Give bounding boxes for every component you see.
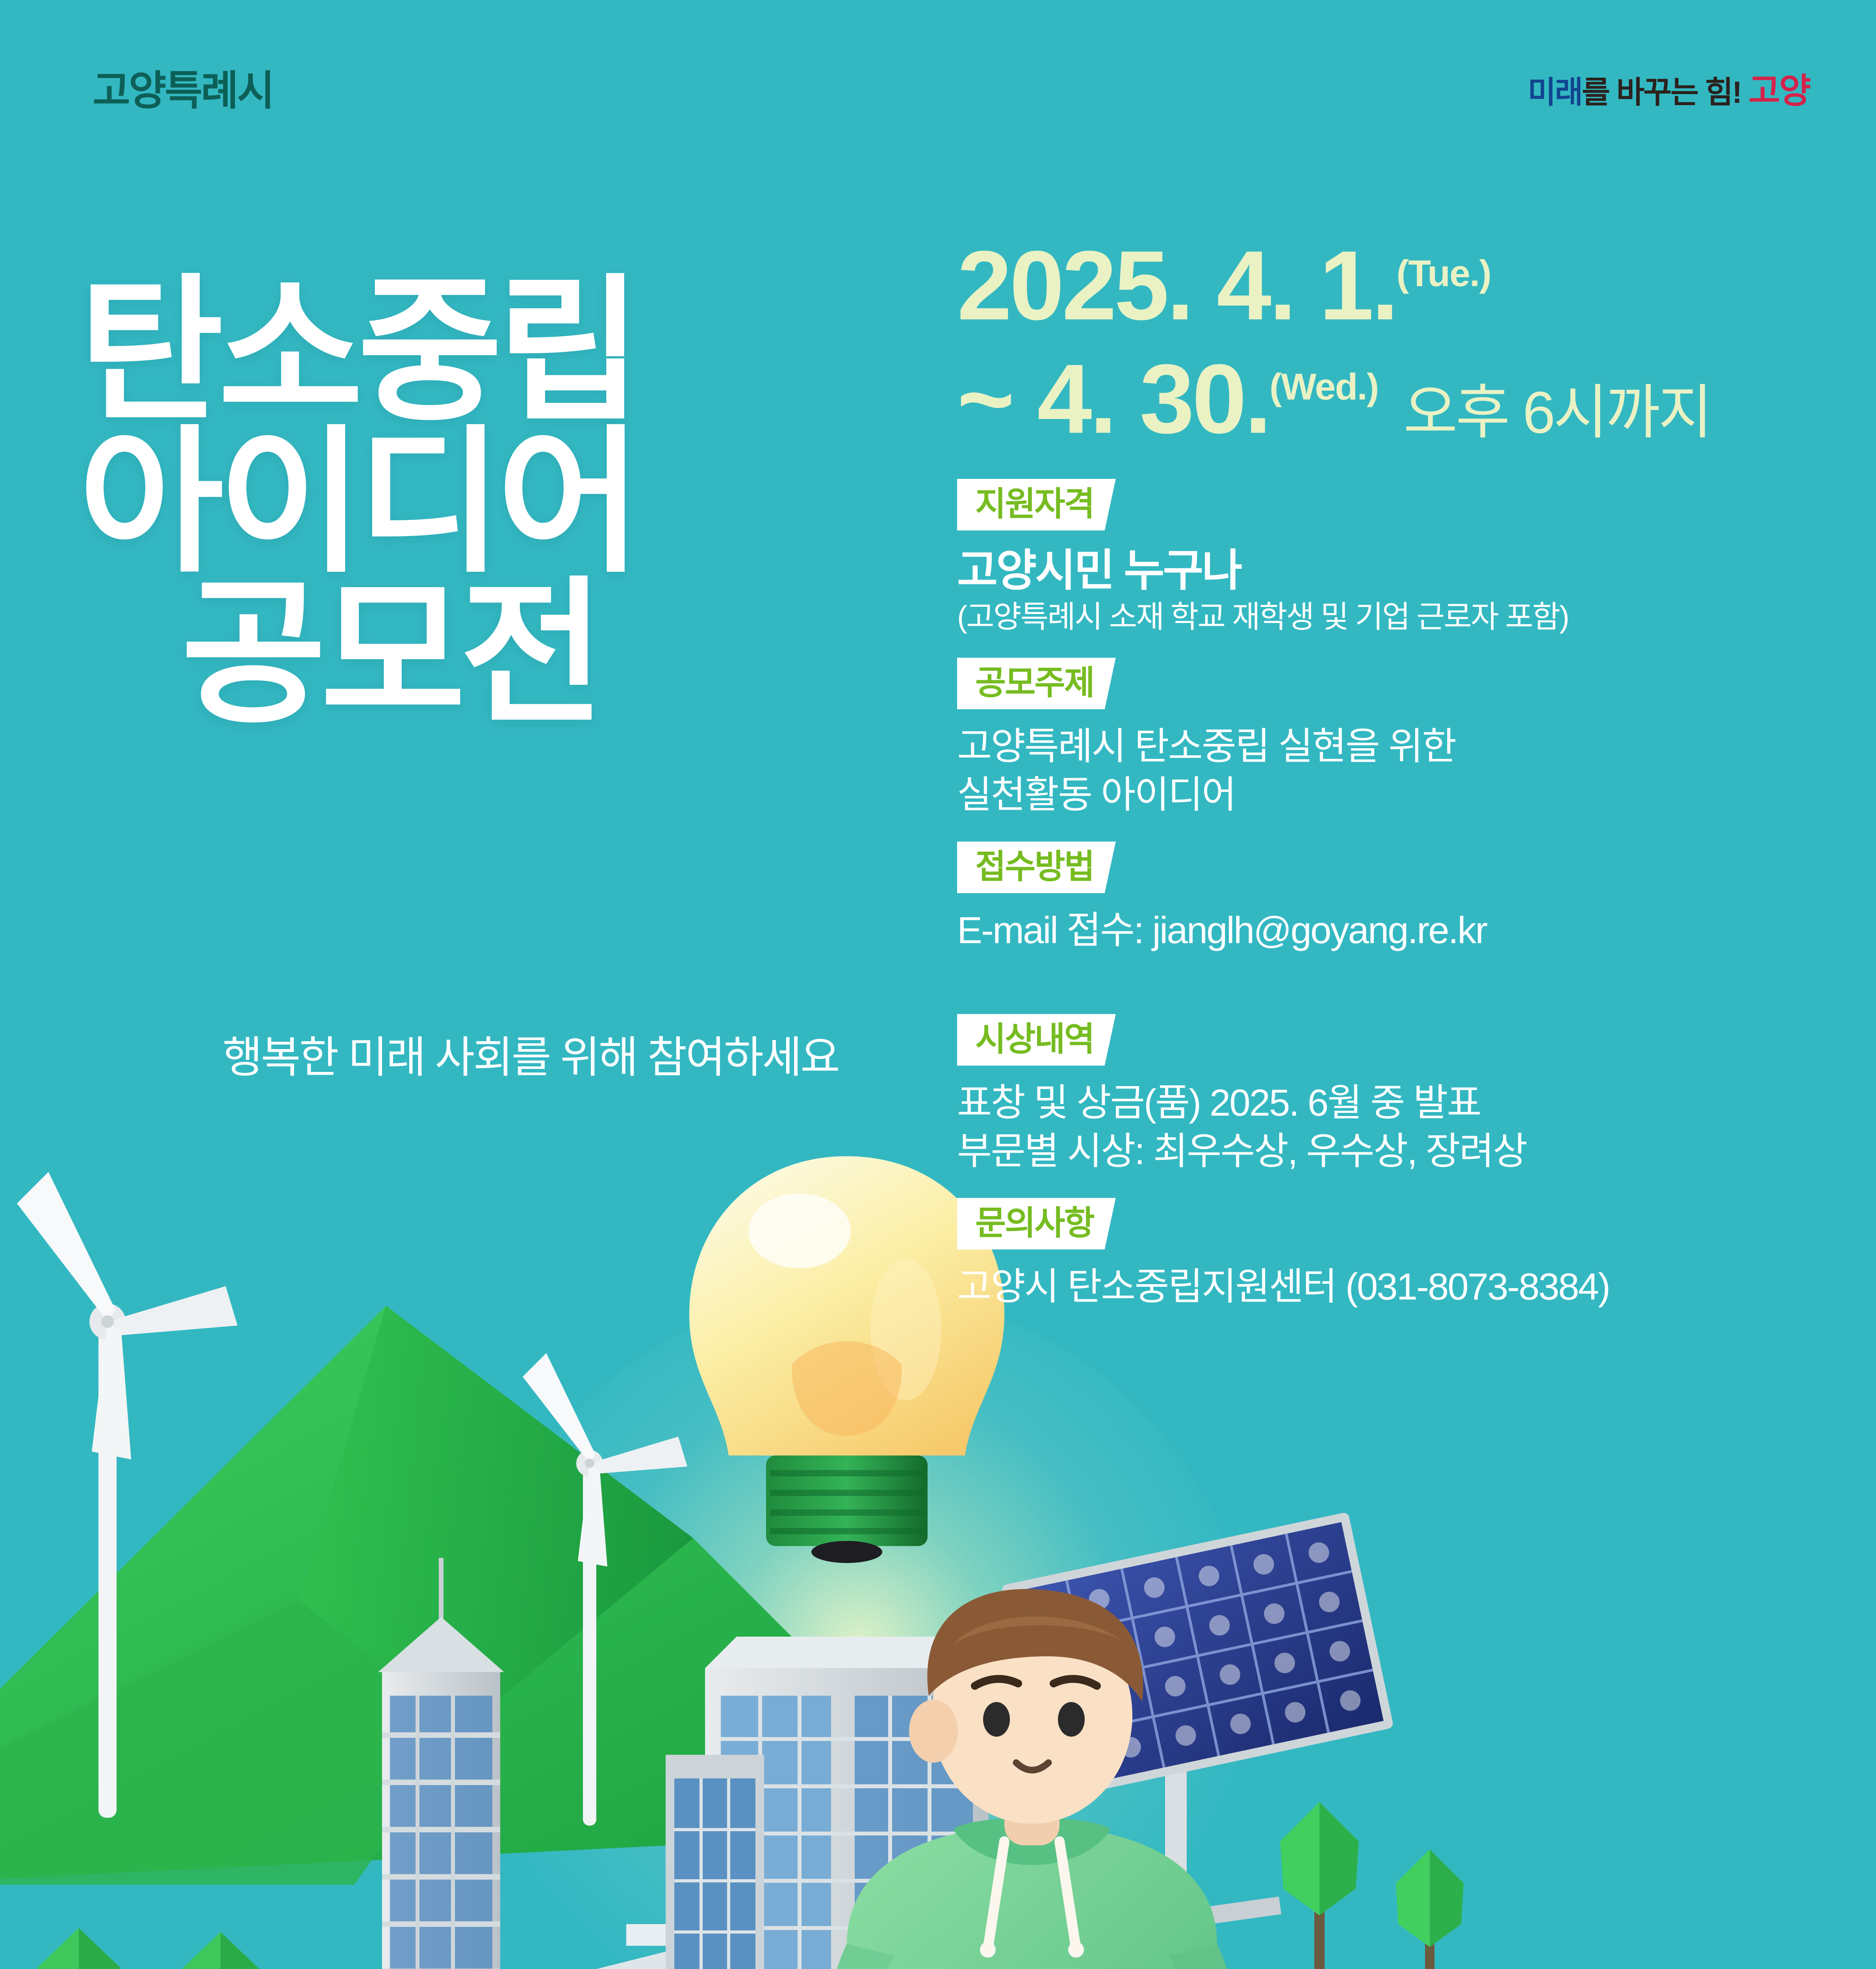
date-start: 2025. 4. 1. xyxy=(957,230,1397,340)
date-until: 오후 6시까지 xyxy=(1403,379,1711,445)
poster-canvas: 고양특례시 미래를 바꾸는 힘! 고양 탄소중립 아이디어 공모전 행복한 미래… xyxy=(0,0,1876,1969)
section-submission: 접수방법 E-mail 접수: jianglh@goyang.re.kr xyxy=(957,842,1835,955)
badge-eligibility: 지원자격 xyxy=(957,479,1116,530)
section-contact: 문의사항 고양시 탄소중립지원센터 (031-8073-8384) xyxy=(957,1198,1835,1311)
section-topic: 공모주제 고양특례시 탄소중립 실현을 위한 실천활동 아이디어 xyxy=(957,658,1835,819)
section-awards: 시상내역 표창 및 상금(품) 2025. 6월 중 발표 부문별 시상: 최우… xyxy=(957,1014,1835,1176)
date-end: ~ 4. 30. xyxy=(957,344,1269,454)
title-line-2: 아이디어 xyxy=(79,427,636,578)
slogan-logo: 미래를 바꾸는 힘! 고양 xyxy=(1528,63,1810,113)
slogan-blue-part: 미래 xyxy=(1528,75,1582,109)
date-start-weekday: (Tue.) xyxy=(1397,253,1491,295)
eligibility-main: 고양시민 누구나 xyxy=(957,544,1835,598)
date-end-weekday: (Wed.) xyxy=(1269,366,1378,408)
section-eligibility: 지원자격 고양시민 누구나 (고양특례시 소재 학교 재학생 및 기업 근로자 … xyxy=(957,479,1835,636)
info-column: 2025. 4. 1.(Tue.) ~ 4. 30.(Wed.) 오후 6시까지… xyxy=(957,236,1835,1311)
city-logo: 고양특례시 xyxy=(93,57,273,117)
awards-line-2: 부문별 시상: 최우수상, 우수상, 장려상 xyxy=(957,1127,1835,1176)
slogan-dark-part: 를 바꾸는 힘! xyxy=(1582,75,1741,109)
page-title: 탄소중립 아이디어 공모전 xyxy=(79,276,636,729)
badge-awards: 시상내역 xyxy=(957,1014,1116,1066)
page-subtitle: 행복한 미래 사회를 위해 참여하세요 xyxy=(223,1022,839,1085)
title-line-3: 공모전 xyxy=(79,578,636,729)
slogan-red-part: 고양 xyxy=(1748,71,1810,110)
topic-line-2: 실천활동 아이디어 xyxy=(957,771,1835,819)
badge-contact: 문의사항 xyxy=(957,1198,1116,1250)
title-line-1: 탄소중립 xyxy=(79,276,636,427)
date-start-row: 2025. 4. 1.(Tue.) xyxy=(957,236,1835,335)
badge-submission: 접수방법 xyxy=(957,842,1116,893)
eligibility-note: (고양특례시 소재 학교 재학생 및 기업 근로자 포함) xyxy=(957,598,1835,636)
badge-topic: 공모주제 xyxy=(957,658,1116,709)
topic-line-1: 고양특례시 탄소중립 실현을 위한 xyxy=(957,723,1835,771)
date-end-row: ~ 4. 30.(Wed.) 오후 6시까지 xyxy=(957,350,1835,448)
contact-line-1[interactable]: 고양시 탄소중립지원센터 (031-8073-8384) xyxy=(957,1263,1835,1311)
submission-email[interactable]: E-mail 접수: jianglh@goyang.re.kr xyxy=(957,907,1835,955)
awards-line-1: 표창 및 상금(품) 2025. 6월 중 발표 xyxy=(957,1079,1835,1127)
